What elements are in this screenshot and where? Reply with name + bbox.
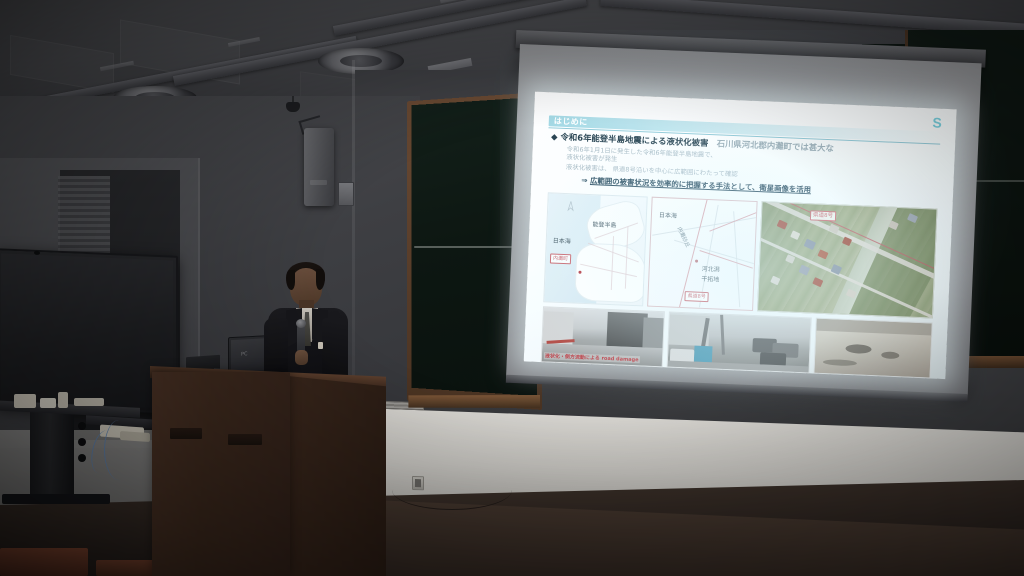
aerial-redbox-route8: 県道8号 xyxy=(810,210,836,221)
presenter xyxy=(262,256,354,386)
podium-side xyxy=(288,376,386,576)
table-item xyxy=(74,398,104,406)
wooden-podium xyxy=(152,372,290,576)
window-blind xyxy=(58,176,110,254)
slide-photo-row: 液状化・側方流動による road damage xyxy=(541,306,933,378)
aerial-photo-liquefaction: 県道8号 xyxy=(757,201,937,318)
wall-control-panel[interactable] xyxy=(338,182,354,206)
map-noto-peninsula: 能登半島 日本海 内灘町 xyxy=(543,192,648,306)
name-badge xyxy=(318,342,323,349)
slide-figure-grid: 能登半島 日本海 内灘町 日本海 xyxy=(541,192,937,368)
map-redbox-route8: 県道8号 xyxy=(684,291,709,302)
compass-icon xyxy=(566,200,575,212)
map-label-peninsula: 能登半島 xyxy=(592,219,616,229)
map-uchinada-detail: 日本海 内灘砂丘 河北潟 干拓地 県道8号 xyxy=(647,197,758,311)
table-item xyxy=(40,398,56,408)
wall-speaker xyxy=(304,128,334,206)
map-marker xyxy=(578,271,581,274)
floor-cable xyxy=(392,470,512,510)
laptop-brand-label: PC xyxy=(241,351,248,357)
table-item xyxy=(14,394,36,408)
ceiling-camera-icon xyxy=(286,102,300,112)
chair xyxy=(0,548,88,576)
projection-screen: S はじめに ◆ 令和6年能登半島地震による液状化被害 石川県河北郡内灘町では甚… xyxy=(520,44,990,394)
map-label-sea: 日本海 xyxy=(659,210,677,220)
photo-sand-boil xyxy=(813,318,932,379)
map-label-sea: 日本海 xyxy=(553,236,571,246)
presenter-hand xyxy=(295,350,308,365)
screen-surface: S はじめに ◆ 令和6年能登半島地震による液状化被害 石川県河北郡内灘町では甚… xyxy=(506,44,981,395)
photo-tilted-houses xyxy=(667,311,812,373)
display-base xyxy=(2,494,110,504)
lecture-hall-scene: S はじめに ◆ 令和6年能登半島地震による液状化被害 石川県河北郡内灘町では甚… xyxy=(0,0,1024,576)
slide-logo-icon: S xyxy=(928,114,946,132)
map-label-kahokugata: 河北潟 xyxy=(702,264,720,274)
chair xyxy=(96,560,156,576)
map-label-reclaimed: 干拓地 xyxy=(701,274,719,284)
chalk-tray xyxy=(408,395,540,408)
map-redbox-uchinada: 内灘町 xyxy=(550,253,571,264)
display-stand xyxy=(30,408,74,500)
microphone-head-icon xyxy=(296,319,306,328)
projected-slide: S はじめに ◆ 令和6年能登半島地震による液状化被害 石川県河北郡内灘町では甚… xyxy=(524,92,957,379)
photo-road-damage: 液状化・側方流動による road damage xyxy=(541,306,665,367)
map-marker xyxy=(695,260,698,263)
slide-section-title: はじめに xyxy=(554,115,588,127)
display-camera-icon xyxy=(34,251,40,255)
table-item xyxy=(58,392,68,408)
